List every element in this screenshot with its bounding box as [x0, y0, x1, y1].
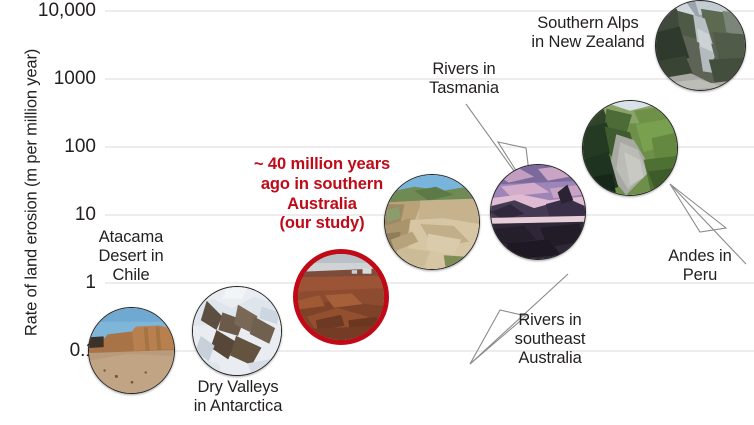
y-tick-1000: 1000 — [18, 69, 96, 88]
bubble-dry-valleys-antarctica[interactable] — [192, 286, 282, 376]
andes-photo — [583, 101, 677, 195]
label-atacama-desert-chile: Atacama Desert in Chile — [70, 228, 192, 285]
label-our-study: ~ 40 million years ago in southern Austr… — [232, 155, 412, 234]
bubble-andes-peru[interactable] — [582, 100, 678, 196]
bubble-our-study-southern-australia[interactable] — [293, 249, 389, 345]
label-dry-valleys-antarctica: Dry Valleys in Antarctica — [176, 378, 300, 416]
y-tick-100: 100 — [18, 137, 96, 156]
y-tick-10: 10 — [18, 205, 96, 224]
atacama-photo — [89, 308, 174, 393]
bubble-southern-alps-new-zealand[interactable] — [655, 0, 746, 91]
label-southern-alps-new-zealand: Southern Alps in New Zealand — [512, 14, 664, 52]
bubble-rivers-tasmania[interactable] — [490, 164, 586, 260]
southern-alps-photo — [656, 1, 745, 90]
bubble-atacama-desert-chile[interactable] — [88, 307, 175, 394]
y-tick-0.1: 0.1 — [18, 341, 96, 360]
label-andes-peru: Andes in Peru — [648, 247, 752, 285]
y-axis-title: Rate of land erosion (m per million year… — [23, 0, 42, 393]
y-tick-10000: 10,000 — [18, 1, 96, 20]
label-rivers-tasmania: Rivers in Tasmania — [400, 60, 528, 98]
tasmania-photo — [491, 165, 585, 259]
label-rivers-southeast-australia: Rivers in southeast Australia — [490, 311, 610, 368]
dry-valleys-photo — [193, 287, 281, 375]
southern-australia-photo — [298, 254, 384, 340]
erosion-rate-chart: Rate of land erosion (m per million year… — [0, 0, 754, 425]
